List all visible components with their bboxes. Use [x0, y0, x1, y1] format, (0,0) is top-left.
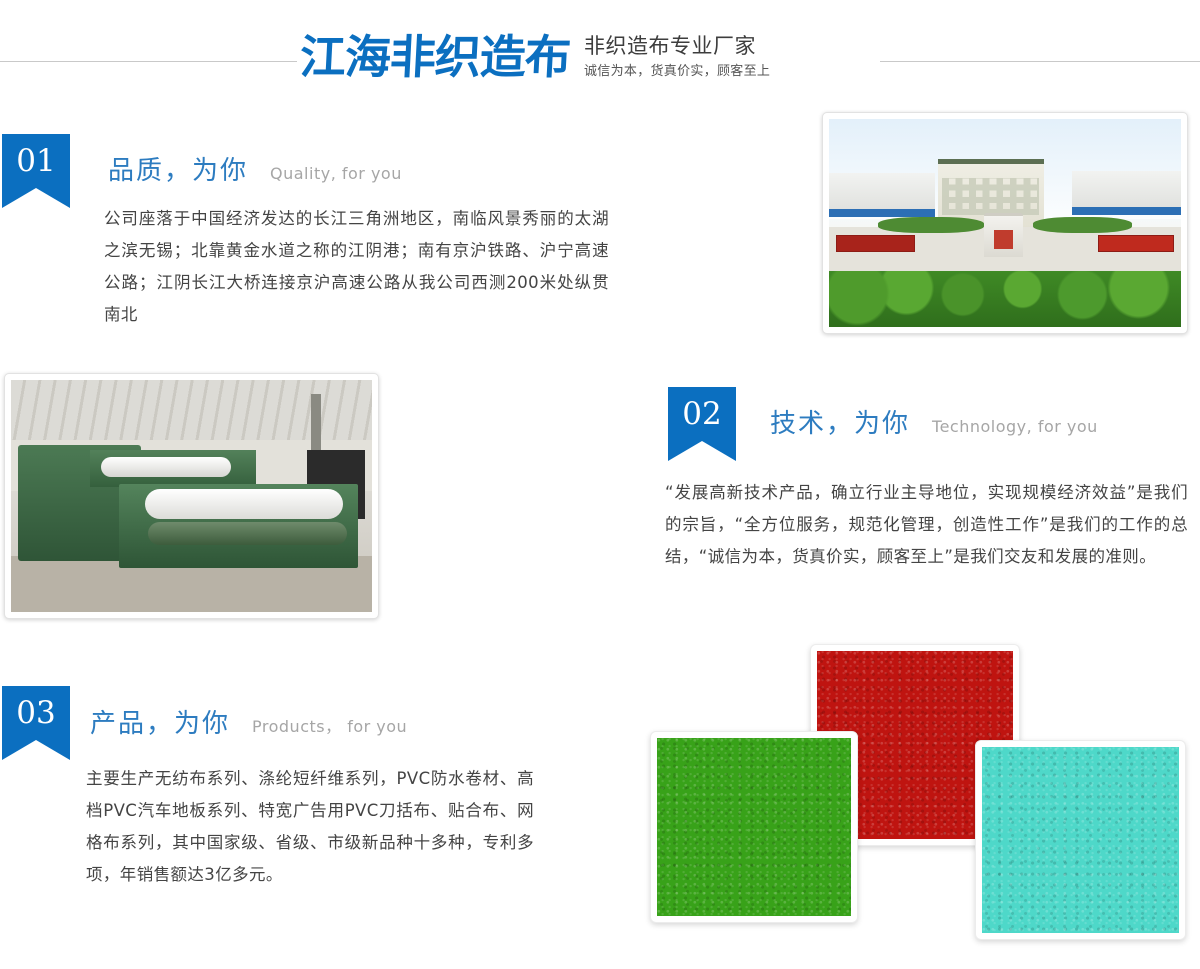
header-rule-right [880, 61, 1200, 62]
header-tagline: 非织造布专业厂家 [584, 33, 770, 59]
promo-page: 江海非织造布 非织造布专业厂家 诚信为本，货真价实，顾客至上 01 品质，为你 … [0, 0, 1200, 969]
section-number-01: 01 [16, 143, 55, 179]
turquoise-pvc-leather-swatch [975, 740, 1186, 940]
section-number-02: 02 [682, 396, 721, 432]
section-badge-02: 02 [668, 387, 736, 441]
header-center: 江海非织造布 非织造布专业厂家 诚信为本，货真价实，顾客至上 [300, 10, 900, 95]
turquoise-swatch-fill [982, 747, 1179, 933]
section-title-02: 技术，为你 Technology, for you [770, 403, 1098, 440]
page-header: 江海非织造布 非织造布专业厂家 诚信为本，货真价实，顾客至上 [0, 0, 1200, 100]
section-title-en-02: Technology, for you [932, 417, 1098, 436]
section-title-01: 品质，为你 Quality, for you [108, 150, 402, 187]
section-body-03: 主要生产无纺布系列、涤纶短纤维系列，PVC防水卷材、高档PVC汽车地板系列、特宽… [86, 763, 534, 891]
green-swatch-fill [657, 738, 851, 916]
section-title-cn-03: 产品，为你 [90, 703, 230, 740]
section-title-03: 产品，为你 Products， for you [90, 703, 407, 740]
section-title-cn-02: 技术，为你 [770, 403, 910, 440]
section-number-03: 03 [16, 695, 55, 731]
section-badge-03: 03 [2, 686, 70, 740]
machine-illustration [11, 380, 372, 612]
section-title-cn-01: 品质，为你 [108, 150, 248, 187]
factory-exterior-photo [822, 112, 1188, 334]
header-subtitle-block: 非织造布专业厂家 诚信为本，货真价实，顾客至上 [584, 33, 770, 82]
section-badge-01: 01 [2, 134, 70, 188]
section-body-02: “发展高新技术产品，确立行业主导地位，实现规模经济效益”是我们的宗旨，“全方位服… [665, 477, 1188, 573]
header-slogan: 诚信为本，货真价实，顾客至上 [584, 62, 770, 82]
section-title-en-03: Products， for you [252, 713, 407, 737]
company-logo-text: 江海非织造布 [299, 34, 571, 80]
section-title-en-01: Quality, for you [270, 164, 402, 183]
nonwoven-production-line-photo [4, 373, 379, 619]
header-rule-left [0, 61, 297, 62]
factory-illustration [829, 119, 1181, 327]
section-body-01: 公司座落于中国经济发达的长江三角洲地区，南临风景秀丽的太湖之滨无锡；北靠黄金水道… [104, 203, 609, 331]
green-pvc-leather-swatch [650, 731, 858, 923]
